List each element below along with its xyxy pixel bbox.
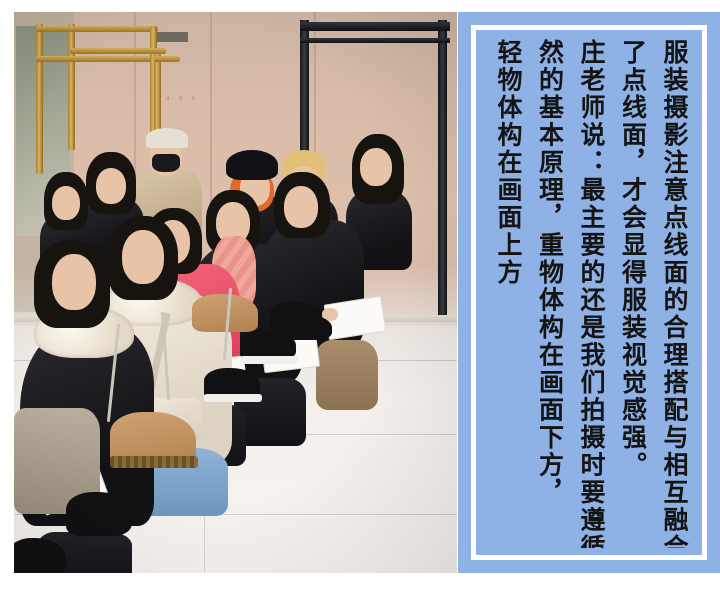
head [96,168,126,204]
shoe [276,314,332,340]
text-panel-border: 服装摄影注意点线面的合理搭配与相互融合，有 了点线面，才会显得服装视觉感强。 庄… [471,25,707,560]
leg [316,340,378,410]
gold-rack-bar-4 [154,56,180,62]
black-frame-post-2 [438,20,447,320]
shoe-sole [240,356,298,364]
lecture-photo: J a n e [14,12,457,573]
head [52,254,96,310]
text-column-1: 服装摄影注意点线面的合理搭配与相互融合，有 [654,37,696,548]
gold-rack-post-1 [36,24,43,174]
vertical-text-block: 服装摄影注意点线面的合理搭配与相互融合，有 了点线面，才会显得服装视觉感强。 庄… [483,37,695,548]
gold-rack-bar-1 [36,26,158,32]
shoe [14,538,66,573]
face-mask [152,154,180,172]
shoe-sole [204,394,262,402]
text-column-3: 庄老师说：最主要的还是我们拍摄时要遵循大自 [571,37,613,548]
shoe [66,492,132,536]
text-column-5: 轻物体构在画面上方 [488,37,530,548]
gold-rack-post-2 [68,24,75,150]
text-column-4: 然的基本原理，重物体构在画面下方， [529,37,571,548]
gold-rack-bar-3 [70,48,166,54]
head [52,186,80,220]
page-root: J a n e [0,0,720,597]
photo-scene: J a n e [14,12,457,573]
gold-rack-bar-2 [36,56,154,62]
black-frame-bar-top [300,22,450,31]
text-panel: 服装摄影注意点线面的合理搭配与相互融合，有 了点线面，才会显得服装视觉感强。 庄… [458,12,720,573]
boot-sole [110,456,198,468]
black-frame-bar-mid [300,38,450,43]
cap-hat-icon [146,128,188,148]
text-column-2: 了点线面，才会显得服装视觉感强。 [612,37,654,548]
